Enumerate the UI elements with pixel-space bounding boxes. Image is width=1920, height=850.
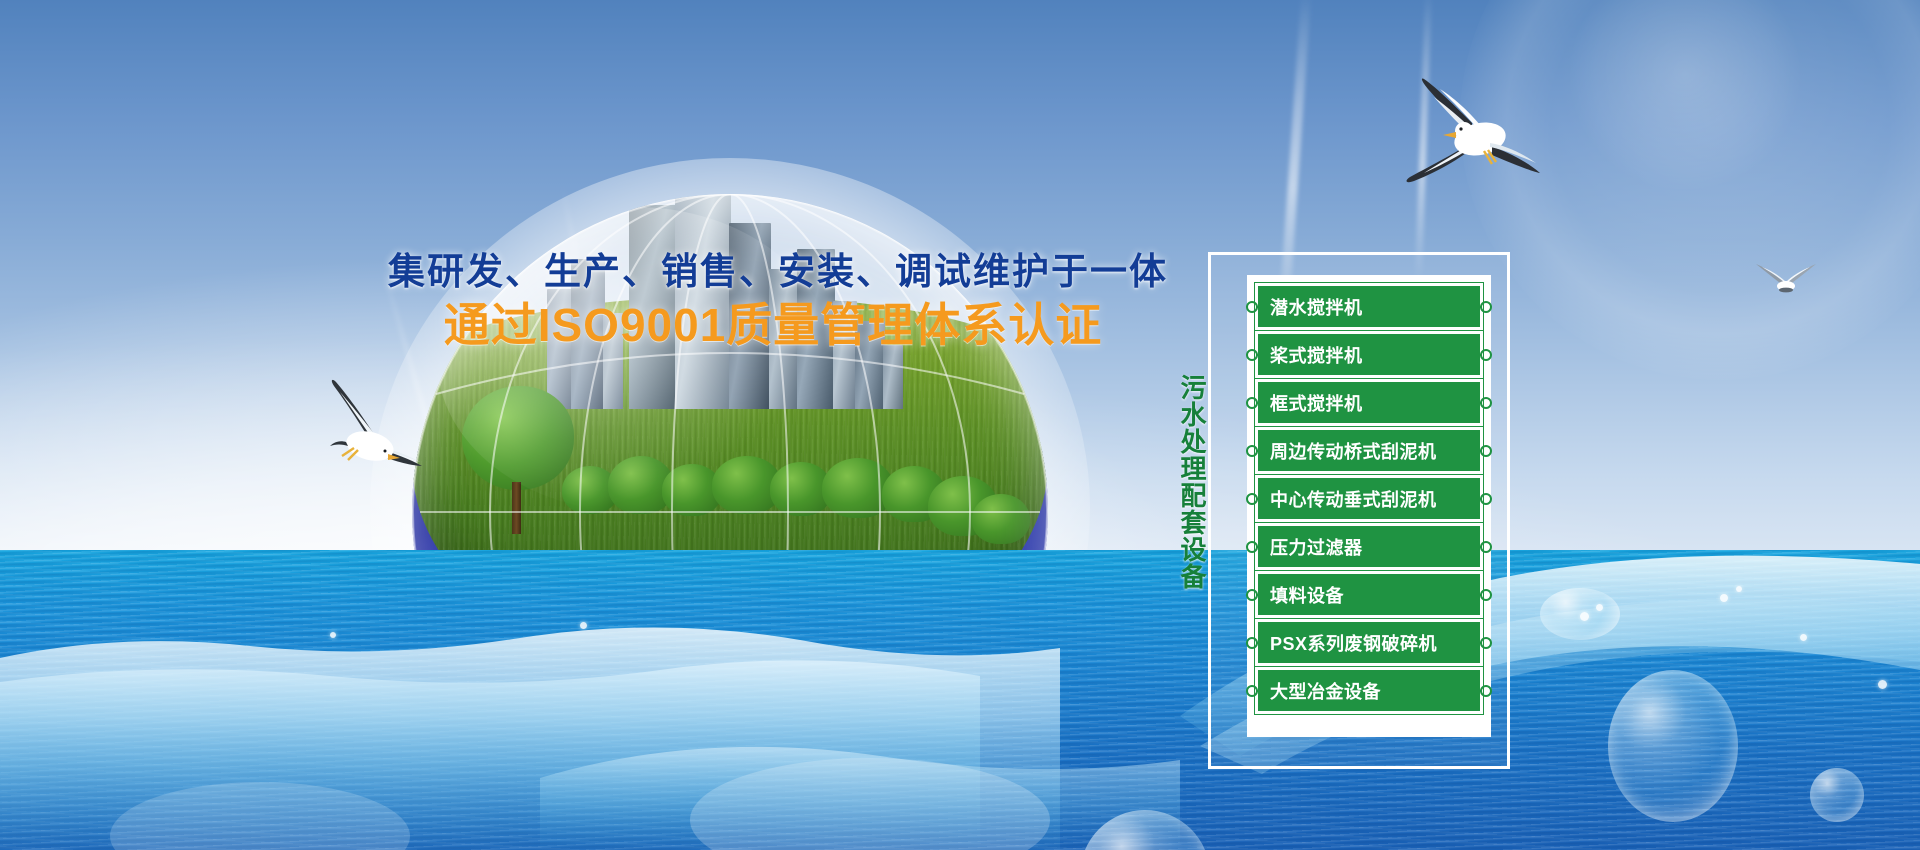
connector-right-icon	[1480, 589, 1492, 601]
connector-left-icon	[1246, 637, 1258, 649]
product-label: 桨式搅拌机	[1270, 342, 1363, 368]
product-list-item[interactable]: 大型冶金设备	[1255, 667, 1483, 714]
water-foreground	[0, 520, 1920, 850]
product-label: 压力过滤器	[1270, 534, 1363, 560]
connector-right-icon	[1480, 637, 1492, 649]
connector-right-icon	[1480, 493, 1492, 505]
product-label: 中心传动垂式刮泥机	[1270, 486, 1437, 512]
product-panel: 潜水搅拌机 桨式搅拌机 框式搅拌机 周边传动桥式刮泥机	[1208, 252, 1510, 769]
water-droplet	[330, 632, 336, 638]
product-label: 大型冶金设备	[1270, 678, 1381, 704]
product-list-item[interactable]: 填料设备	[1255, 571, 1483, 618]
connector-right-icon	[1480, 301, 1492, 313]
product-list-item[interactable]: PSX系列废钢破碎机	[1255, 619, 1483, 666]
connector-left-icon	[1246, 493, 1258, 505]
connector-left-icon	[1246, 349, 1258, 361]
connector-right-icon	[1480, 541, 1492, 553]
water-droplet	[1736, 586, 1742, 592]
product-label: 潜水搅拌机	[1270, 294, 1363, 320]
connector-left-icon	[1246, 445, 1258, 457]
headline-block: 集研发、生产、销售、安装、调试维护于一体 通过ISO9001质量管理体系认证	[388, 250, 1158, 350]
product-panel-inner: 潜水搅拌机 桨式搅拌机 框式搅拌机 周边传动桥式刮泥机	[1247, 275, 1491, 737]
headline-secondary: 通过ISO9001质量管理体系认证	[388, 300, 1158, 351]
connector-left-icon	[1246, 541, 1258, 553]
water-droplet	[1720, 594, 1728, 602]
product-list-item[interactable]: 周边传动桥式刮泥机	[1255, 427, 1483, 474]
water-droplet	[580, 622, 587, 629]
product-label: PSX系列废钢破碎机	[1270, 630, 1437, 656]
product-list-item[interactable]: 压力过滤器	[1255, 523, 1483, 570]
seagull-left-icon	[308, 374, 430, 478]
connector-left-icon	[1246, 397, 1258, 409]
connector-right-icon	[1480, 445, 1492, 457]
headline-primary: 集研发、生产、销售、安装、调试维护于一体	[388, 250, 1158, 294]
water-droplet	[1878, 680, 1887, 689]
seagull-large-right-icon	[1380, 65, 1560, 210]
product-list: 潜水搅拌机 桨式搅拌机 框式搅拌机 周边传动桥式刮泥机	[1255, 283, 1483, 714]
bubble	[1608, 670, 1738, 822]
connector-left-icon	[1246, 301, 1258, 313]
product-list-item[interactable]: 潜水搅拌机	[1255, 283, 1483, 330]
category-vertical-title: 污水处理配套设备	[1164, 374, 1206, 590]
connector-left-icon	[1246, 685, 1258, 697]
product-label: 周边传动桥式刮泥机	[1270, 438, 1437, 464]
seagull-small-right-icon	[1752, 262, 1820, 298]
connector-right-icon	[1480, 397, 1492, 409]
product-list-item[interactable]: 桨式搅拌机	[1255, 331, 1483, 378]
product-label: 填料设备	[1270, 582, 1344, 608]
water-droplet	[1580, 612, 1589, 621]
hero-banner: 集研发、生产、销售、安装、调试维护于一体 通过ISO9001质量管理体系认证 污…	[0, 0, 1920, 850]
product-list-item[interactable]: 框式搅拌机	[1255, 379, 1483, 426]
connector-right-icon	[1480, 685, 1492, 697]
connector-right-icon	[1480, 349, 1492, 361]
bubble	[1810, 768, 1864, 822]
product-list-item[interactable]: 中心传动垂式刮泥机	[1255, 475, 1483, 522]
water-droplet	[1596, 604, 1603, 611]
water-droplet	[1800, 634, 1807, 641]
connector-left-icon	[1246, 589, 1258, 601]
product-label: 框式搅拌机	[1270, 390, 1363, 416]
